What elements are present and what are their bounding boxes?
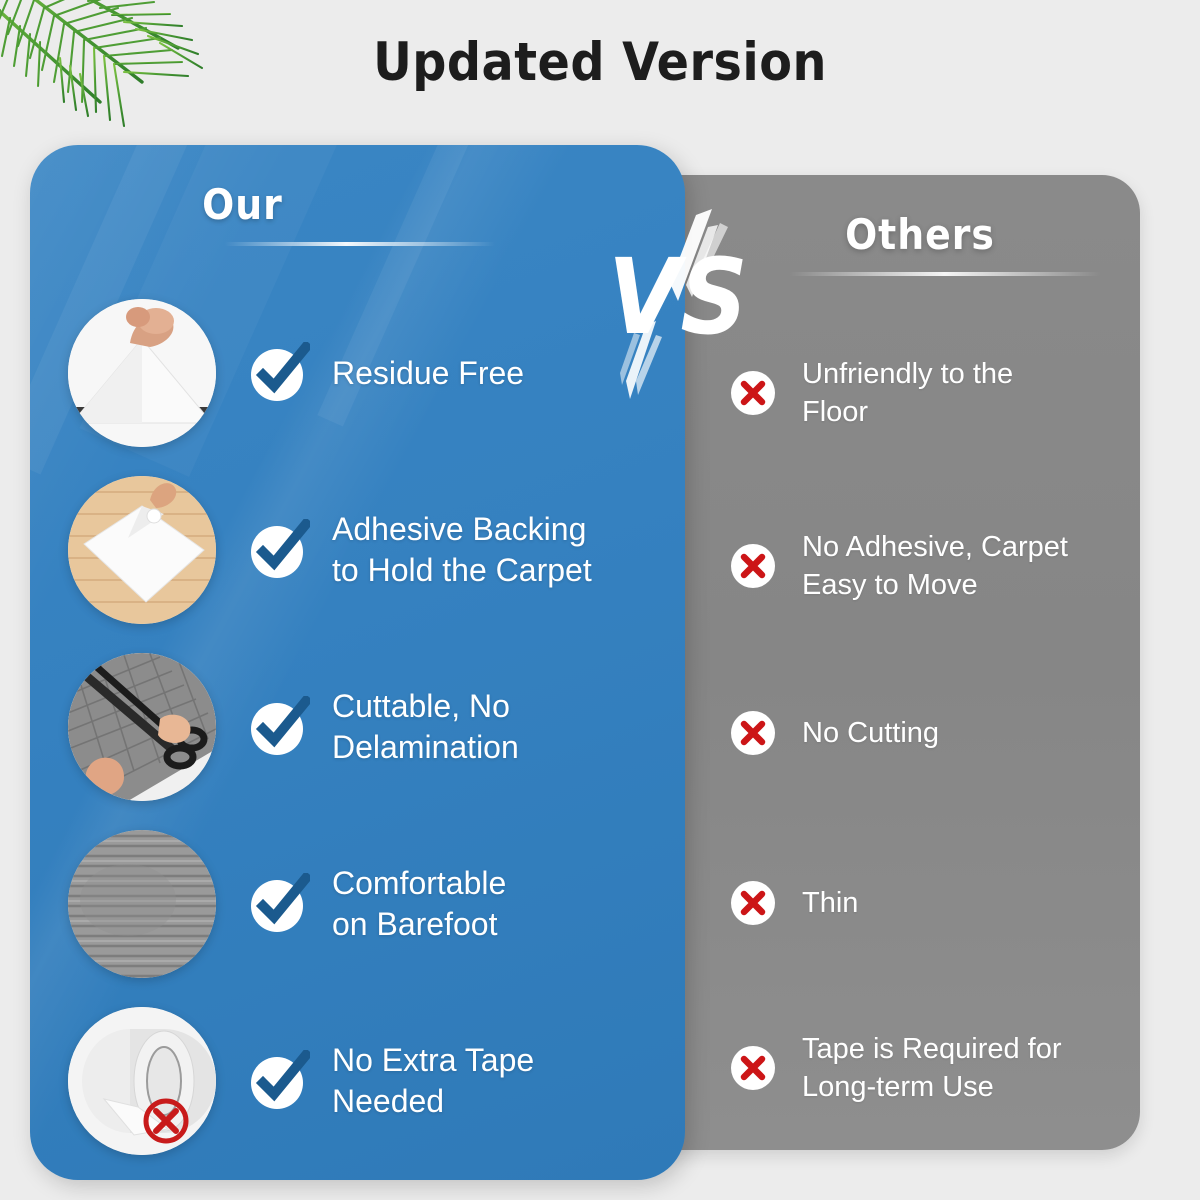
check-circle-icon <box>248 519 310 581</box>
x-circle-icon <box>730 880 776 926</box>
tape-roll-with-red-x-photo <box>68 1007 216 1155</box>
our-row-label: Adhesive Backing to Hold the Carpet <box>332 509 592 591</box>
scissors-cutting-carpet-photo <box>68 653 216 801</box>
other-row-no-adhesive: No Adhesive, Carpet Easy to Move <box>730 528 1130 604</box>
x-circle-icon <box>730 710 776 756</box>
infographic-canvas: Updated Version Others Our <box>0 0 1200 1200</box>
check-circle-icon <box>248 696 310 758</box>
our-row-label: Residue Free <box>332 353 524 394</box>
gray-carpet-texture-photo <box>68 830 216 978</box>
vs-badge: VS <box>600 205 770 405</box>
other-row-label: Tape is Required for Long-term Use <box>802 1030 1062 1106</box>
our-row-comfortable: Comfortable on Barefoot <box>68 824 668 984</box>
our-row-label: Comfortable on Barefoot <box>332 863 506 945</box>
page-title: Updated Version <box>0 32 1200 93</box>
other-row-label: Unfriendly to the Floor <box>802 355 1013 431</box>
x-circle-icon <box>730 543 776 589</box>
our-row-adhesive-backing: Adhesive Backing to Hold the Carpet <box>68 470 668 630</box>
vs-badge-text: VS <box>608 236 748 358</box>
check-circle-icon <box>248 342 310 404</box>
other-row-no-cutting: No Cutting <box>730 710 1130 756</box>
other-row-thin: Thin <box>730 880 1130 926</box>
check-circle-icon <box>248 873 310 935</box>
our-row-cuttable: Cuttable, No Delamination <box>68 647 668 807</box>
other-row-unfriendly-floor: Unfriendly to the Floor <box>730 355 1130 431</box>
other-row-label: Thin <box>802 884 858 922</box>
our-row-label: No Extra Tape Needed <box>332 1040 534 1122</box>
our-row-no-extra-tape: No Extra Tape Needed <box>68 1001 668 1161</box>
peeling-adhesive-sheet-photo <box>68 299 216 447</box>
our-row-residue-free: Residue Free <box>68 293 668 453</box>
other-row-label: No Adhesive, Carpet Easy to Move <box>802 528 1068 604</box>
our-feature-list: Residue Free <box>30 145 685 1180</box>
other-row-label: No Cutting <box>802 714 939 752</box>
check-circle-icon <box>248 1050 310 1112</box>
our-row-label: Cuttable, No Delamination <box>332 686 519 768</box>
other-row-tape-required: Tape is Required for Long-term Use <box>730 1030 1130 1106</box>
x-circle-icon <box>730 1045 776 1091</box>
white-tile-on-wood-floor-photo <box>68 476 216 624</box>
